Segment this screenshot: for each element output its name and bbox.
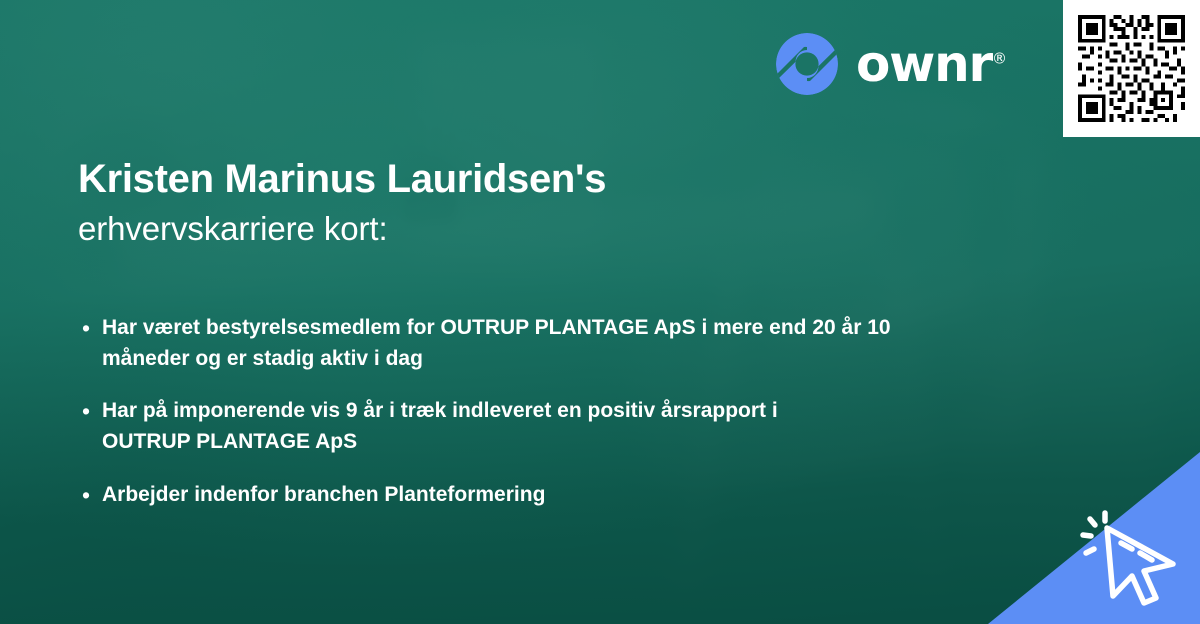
list-item-text: Har været bestyrelsesmedlem for OUTRUP P…: [102, 313, 930, 374]
qr-code[interactable]: [1074, 11, 1189, 126]
ownr-circle-swoosh-icon: [776, 33, 838, 95]
click-cursor-icon: [1080, 508, 1188, 606]
bullet-icon: •: [82, 396, 102, 426]
business-card-graphic: ownr®: [0, 0, 1200, 624]
bullet-icon: •: [82, 480, 102, 510]
list-item: • Arbejder indenfor branchen Planteforme…: [82, 480, 982, 511]
registered-trademark-icon: ®: [992, 49, 1007, 67]
bullet-icon: •: [82, 313, 102, 343]
subtitle: erhvervskarriere kort:: [78, 208, 978, 250]
career-highlights-list: • Har været bestyrelsesmedlem for OUTRUP…: [82, 313, 982, 532]
list-item: • Har været bestyrelsesmedlem for OUTRUP…: [82, 313, 982, 374]
list-item-text: Arbejder indenfor branchen Planteformeri…: [102, 480, 545, 511]
list-item: • Har på imponerende vis 9 år i træk ind…: [82, 396, 982, 457]
ownr-wordmark: ownr®: [856, 39, 1007, 89]
page-title: Kristen Marinus Lauridsen's erhvervskarr…: [78, 156, 978, 251]
ownr-logo[interactable]: ownr®: [776, 33, 1007, 95]
ownr-wordmark-text: ownr: [856, 35, 992, 93]
list-item-text: Har på imponerende vis 9 år i træk indle…: [102, 396, 792, 457]
person-name: Kristen Marinus Lauridsen's: [78, 156, 978, 202]
qr-code-panel[interactable]: [1063, 0, 1200, 137]
